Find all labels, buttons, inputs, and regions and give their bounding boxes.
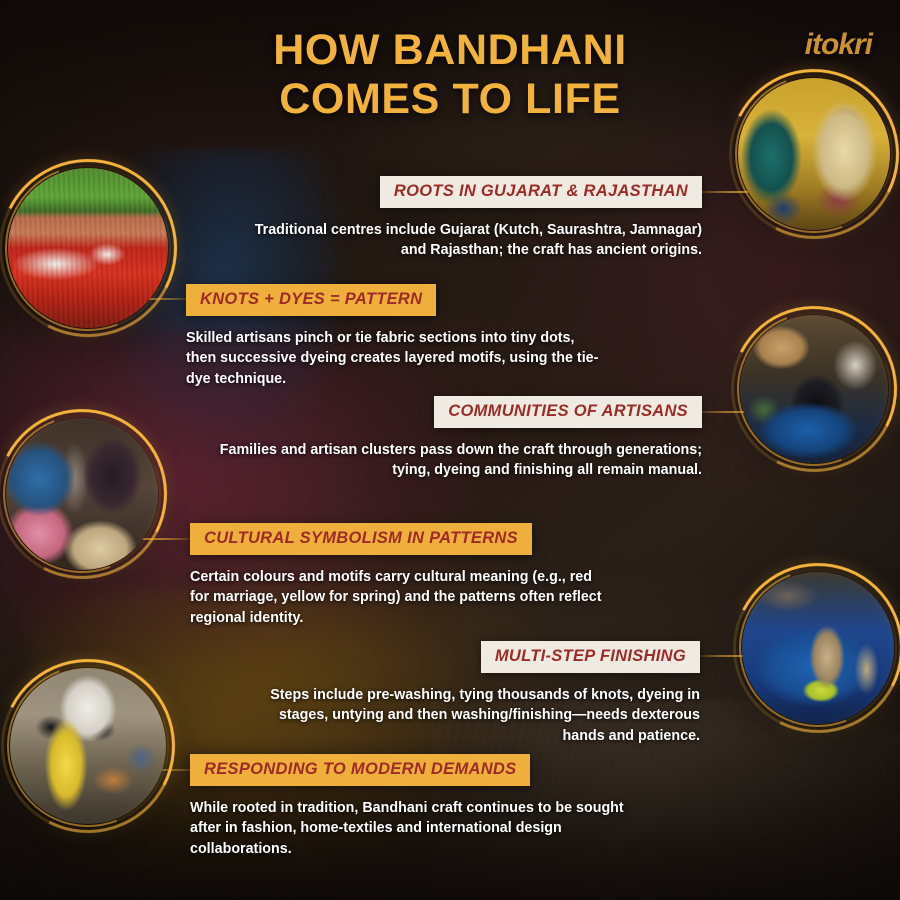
- photo-man-lifting-yellow-fabric-image: [10, 668, 166, 824]
- brand-logo[interactable]: itokri: [805, 28, 872, 62]
- photo-women-with-cream-cloth: [6, 418, 158, 570]
- photo-hands-tying-red-cloth-image: [8, 168, 168, 328]
- section-label-communities: COMMUNITIES OF ARTISANS: [434, 396, 702, 428]
- section-label-roots: ROOTS IN GUJARAT & RAJASTHAN: [380, 176, 702, 208]
- title-line-1: HOW BANDHANI: [273, 26, 627, 74]
- section-cultural-symbolism: CULTURAL SYMBOLISM IN PATTERNS Certain c…: [190, 523, 608, 628]
- section-label-cultural-symbolism: CULTURAL SYMBOLISM IN PATTERNS: [190, 523, 532, 555]
- photo-women-with-cream-cloth-image: [6, 418, 158, 570]
- section-body-communities: Families and artisan clusters pass down …: [208, 440, 702, 481]
- photo-man-lifting-yellow-fabric: [10, 668, 166, 824]
- infographic-poster: HOW BANDHANI COMES TO LIFE itokri: [0, 0, 900, 900]
- section-body-roots: Traditional centres include Gujarat (Kut…: [240, 220, 702, 261]
- photo-blue-dye-vat-image: [742, 572, 894, 724]
- section-body-knots-dyes: Skilled artisans pinch or tie fabric sec…: [186, 328, 606, 389]
- section-body-cultural-symbolism: Certain colours and motifs carry cultura…: [190, 567, 608, 628]
- section-body-modern-demands: While rooted in tradition, Bandhani craf…: [190, 798, 652, 859]
- photo-artisan-dyeing-dark-cloth: [740, 315, 888, 463]
- connector-line-cultural: [142, 538, 190, 540]
- connector-line-roots: [700, 191, 748, 193]
- photo-artisan-dyeing-dark-cloth-image: [740, 315, 888, 463]
- section-label-multi-step-finishing: MULTI-STEP FINISHING: [481, 641, 700, 673]
- section-communities: COMMUNITIES OF ARTISANS Families and art…: [208, 396, 702, 481]
- section-label-knots-dyes: KNOTS + DYES = PATTERN: [186, 284, 436, 316]
- section-modern-demands: RESPONDING TO MODERN DEMANDS While roote…: [190, 754, 652, 859]
- section-body-multi-step-finishing: Steps include pre-washing, tying thousan…: [270, 685, 700, 746]
- section-multi-step-finishing: MULTI-STEP FINISHING Steps include pre-w…: [270, 641, 700, 746]
- section-roots: ROOTS IN GUJARAT & RAJASTHAN Traditional…: [240, 176, 702, 261]
- photo-blue-dye-vat: [742, 572, 894, 724]
- section-label-modern-demands: RESPONDING TO MODERN DEMANDS: [190, 754, 530, 786]
- title-line-2: COMES TO LIFE: [0, 75, 900, 124]
- page-title: HOW BANDHANI COMES TO LIFE: [0, 26, 900, 124]
- photo-hands-tying-red-cloth: [8, 168, 168, 328]
- section-knots-dyes: KNOTS + DYES = PATTERN Skilled artisans …: [186, 284, 606, 389]
- poster-header: HOW BANDHANI COMES TO LIFE: [0, 26, 900, 124]
